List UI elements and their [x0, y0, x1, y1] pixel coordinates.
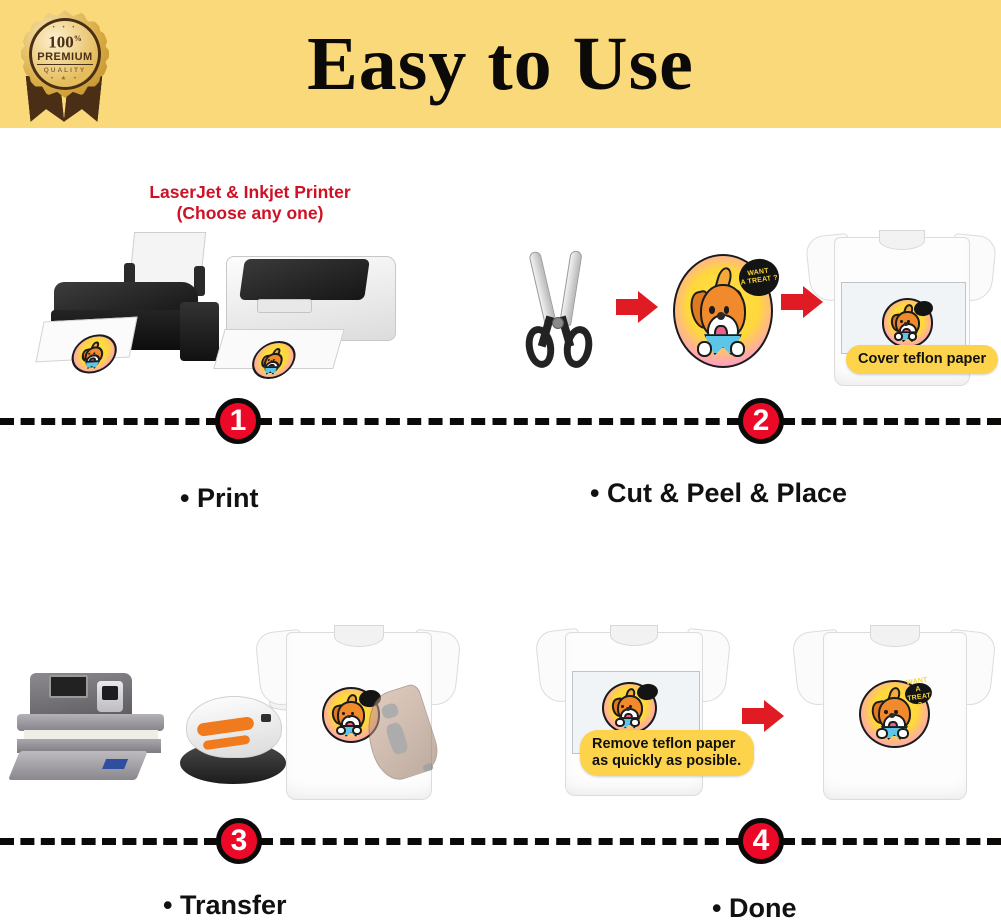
- step-bullet-2: •: [590, 478, 599, 508]
- arrow-head: [764, 700, 784, 732]
- dog-paw-right: [352, 726, 362, 736]
- arrow-shaft: [781, 294, 805, 310]
- step-label-2: • Cut & Peel & Place: [590, 478, 847, 509]
- step-bullet-1: •: [180, 483, 189, 513]
- callout-remove-teflon: Remove teflon paper as quickly as posibl…: [580, 730, 754, 776]
- speech-line-2: A TREAT ?: [906, 685, 931, 708]
- heat-press-screen: [49, 675, 88, 697]
- step-label-1: • Print: [180, 483, 258, 514]
- callout-remove-teflon-line2: as quickly as posible.: [592, 753, 742, 770]
- scissors-blade-left: [528, 251, 557, 327]
- t-shirt-step3: [258, 618, 458, 798]
- dog-speech-bubble-text: WANT A TREAT ?: [902, 676, 934, 711]
- step-badge-1: 1: [215, 398, 261, 444]
- printed-sheet: [35, 316, 137, 362]
- heat-press-platen: [17, 714, 164, 731]
- page-title: Easy to Use: [0, 14, 1001, 114]
- step-badge-2: 2: [738, 398, 784, 444]
- printed-dog-artwork: [65, 324, 121, 372]
- step-label-text-3: Transfer: [180, 890, 287, 920]
- printer-caption: LaserJet & Inkjet Printer (Choose any on…: [110, 182, 390, 224]
- scissors-icon: [516, 250, 602, 368]
- dog-paw-right: [730, 341, 745, 357]
- speech-line-1: WANT: [905, 676, 927, 686]
- dog-speech-bubble-text: WANT A TREAT ?: [739, 267, 778, 288]
- laser-printer-output-slot: [257, 299, 312, 313]
- dog-eye-right: [724, 306, 730, 313]
- divider-line-1b: [258, 418, 741, 425]
- shirt-collar: [870, 625, 920, 647]
- printer-caption-line2: (Choose any one): [110, 203, 390, 224]
- heat-press-control-panel: [97, 681, 123, 712]
- step-label-text-2: Cut & Peel & Place: [607, 478, 847, 508]
- step-label-3: • Transfer: [163, 890, 287, 921]
- callout-cover-teflon: Cover teflon paper: [846, 345, 998, 374]
- header-banner: • • • 100% PREMIUM QUALITY • ★ • Easy to…: [0, 0, 1001, 128]
- divider-line-1c: [781, 418, 1001, 425]
- step-label-text-1: Print: [197, 483, 259, 513]
- dog-paw-left: [894, 332, 904, 341]
- printed-dog-artwork: [245, 333, 302, 377]
- divider-line-2b: [259, 838, 740, 845]
- divider-line-2a: [0, 838, 218, 845]
- arrow-head: [638, 291, 658, 323]
- dog-paw-right: [630, 718, 640, 727]
- heat-press-machine: [14, 665, 174, 795]
- laser-printer-lid: [239, 259, 370, 300]
- clothes-iron: [368, 690, 430, 776]
- scissors-grip-left: [523, 323, 557, 370]
- ink-tank: [180, 302, 219, 361]
- step-badge-4: 4: [738, 818, 784, 864]
- t-shirt-finished: WANT A TREAT ?: [795, 618, 993, 798]
- dog-paw-right: [897, 728, 909, 739]
- step-label-4: • Done: [712, 893, 796, 924]
- step-badge-3: 3: [216, 818, 262, 864]
- arrow-right-icon-1: [616, 291, 658, 323]
- dog-speech-bubble: WANT A TREAT ?: [903, 681, 933, 706]
- step-bullet-3: •: [163, 890, 172, 920]
- heat-press-display: [102, 686, 118, 700]
- arrow-right-icon-3: [742, 700, 784, 732]
- dog-paw-left: [876, 728, 888, 739]
- heat-press-base: [8, 751, 148, 780]
- step-label-text-4: Done: [729, 893, 797, 923]
- callout-remove-teflon-line1: Remove teflon paper: [592, 736, 742, 753]
- divider-line-1a: [0, 418, 220, 425]
- divider-line-2c: [781, 838, 1001, 845]
- speech-line-2: A TREAT ?: [740, 275, 778, 287]
- laser-printer-tray: [213, 329, 344, 369]
- dog-nose: [626, 707, 630, 711]
- shirt-collar: [334, 625, 384, 647]
- inkjet-printer: [40, 232, 215, 372]
- scissors-blade-right: [559, 250, 583, 326]
- step-bullet-4: •: [712, 893, 721, 923]
- transfer-decal-dog: WANT A TREAT ?: [666, 228, 776, 370]
- arrow-shaft: [742, 708, 766, 724]
- dog-eye-left: [709, 306, 715, 313]
- dog-paw-left: [697, 341, 712, 357]
- shirt-collar: [879, 230, 926, 250]
- dog-nose: [904, 322, 908, 325]
- shirt-dog-artwork: [879, 288, 933, 346]
- arrow-shaft: [616, 299, 640, 315]
- shirt-dog-artwork: WANT A TREAT ?: [854, 665, 930, 747]
- laser-printer: [215, 245, 405, 380]
- dog-paw-left: [615, 718, 625, 727]
- printer-caption-line1: LaserJet & Inkjet Printer: [110, 182, 390, 203]
- dog-paw-left: [336, 726, 346, 736]
- shirt-dog-artwork: [599, 671, 657, 733]
- dog-eye-left: [900, 320, 903, 323]
- dog-paw-right: [908, 332, 918, 341]
- heat-press-accessory: [101, 759, 128, 769]
